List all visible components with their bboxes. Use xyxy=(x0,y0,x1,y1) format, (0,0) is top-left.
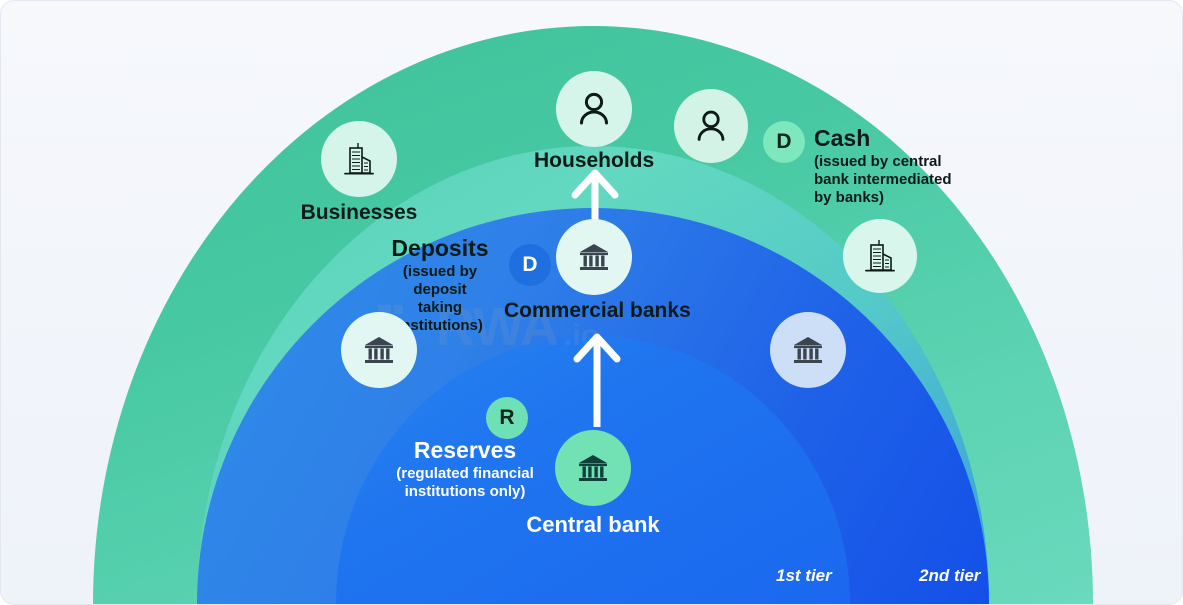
households-circle xyxy=(556,71,632,147)
reserves-subtitle-line-2: institutions only) xyxy=(393,483,537,501)
money-deposits: D xyxy=(509,244,551,286)
money-reserves: R xyxy=(486,397,528,439)
node-commercial-bank-right[interactable] xyxy=(770,312,846,388)
commercial-bank-left-circle xyxy=(341,312,417,388)
deposits-subtitle-line-1: (issued by deposit xyxy=(375,263,505,299)
commercial-banks-label: Commercial banks xyxy=(504,299,684,323)
businesses-circle xyxy=(321,121,397,197)
households-label: Households xyxy=(534,149,654,173)
deposits-badge: D xyxy=(509,244,551,286)
cash-subtitle-line-2: bank intermediated xyxy=(814,171,952,189)
deposits-title: Deposits xyxy=(375,236,505,260)
node-commercial-banks[interactable]: Commercial banks xyxy=(556,219,632,295)
node-commercial-bank-left[interactable] xyxy=(341,312,417,388)
cash-text-block: Cash (issued by central bank intermediat… xyxy=(814,126,952,207)
reserves-title: Reserves xyxy=(393,438,537,462)
node-businesses[interactable]: Businesses xyxy=(321,121,397,197)
central-bank-label: Central bank xyxy=(500,512,686,538)
person-icon xyxy=(573,88,615,130)
bank-icon xyxy=(788,330,828,370)
node-households[interactable]: Households xyxy=(556,71,632,147)
office-building-icon xyxy=(860,236,900,276)
node-household-secondary[interactable] xyxy=(674,89,748,163)
arrow-central-to-commercial xyxy=(569,331,625,429)
household-secondary-circle xyxy=(674,89,748,163)
commercial-bank-right-circle xyxy=(770,312,846,388)
reserves-subtitle-line-1: (regulated financial xyxy=(393,465,537,483)
bank-icon xyxy=(573,448,613,488)
cash-subtitle-line-3: by banks) xyxy=(814,189,952,207)
reserves-text-block: Reserves (regulated financial institutio… xyxy=(393,438,537,501)
reserves-badge: R xyxy=(486,397,528,439)
commercial-banks-circle xyxy=(556,219,632,295)
bank-icon xyxy=(574,237,614,277)
central-bank-circle xyxy=(555,430,631,506)
diagram-card: RWA .io Businesses xyxy=(0,0,1183,605)
office-building-icon xyxy=(339,139,379,179)
cash-title: Cash xyxy=(814,126,952,150)
tier-2-label: 2nd tier xyxy=(919,566,980,586)
person-icon xyxy=(691,106,731,146)
tier-1-label: 1st tier xyxy=(776,566,832,586)
node-central-bank[interactable]: Central bank xyxy=(555,430,631,506)
business-secondary-circle xyxy=(843,219,917,293)
node-business-secondary[interactable] xyxy=(843,219,917,293)
money-cash: D xyxy=(763,121,805,163)
cash-badge: D xyxy=(763,121,805,163)
bank-icon xyxy=(359,330,399,370)
cash-subtitle-line-1: (issued by central xyxy=(814,153,952,171)
businesses-label: Businesses xyxy=(299,201,419,225)
